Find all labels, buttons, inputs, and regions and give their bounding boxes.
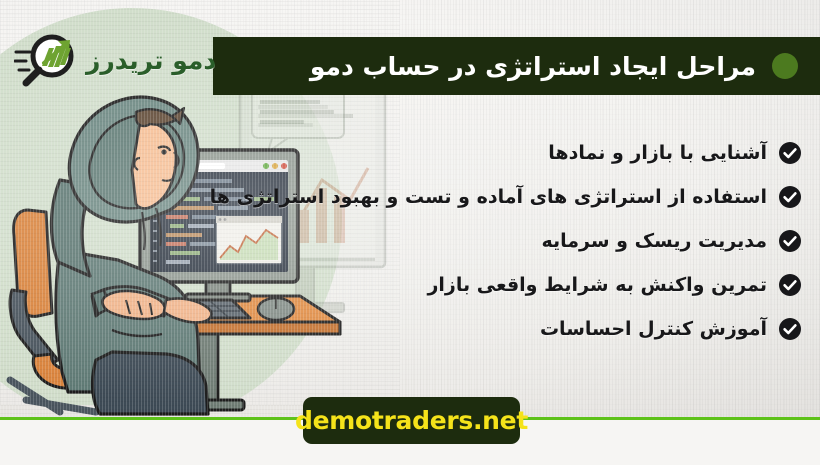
website-url-label: demotraders.net — [295, 406, 528, 435]
header-bar: مراحل ایجاد استراتژی در حساب دمو — [213, 37, 820, 95]
list-item: تمرین واکنش به شرایط واقعی بازار — [262, 268, 802, 301]
list-item-label: تمرین واکنش به شرایط واقعی بازار — [427, 274, 767, 296]
list-item-label: استفاده از استراتژی های آماده و تست و به… — [210, 186, 767, 208]
list-item-label: آموزش کنترل احساسات — [540, 318, 767, 340]
circle-bullet-icon — [772, 53, 798, 79]
list-item-label: آشنایی با بازار و نمادها — [548, 142, 767, 164]
check-circle-icon — [778, 229, 802, 253]
banner-canvas: دمو تریدرز مراحل — [0, 0, 820, 465]
list-item: آشنایی با بازار و نمادها — [262, 136, 802, 169]
check-circle-icon — [778, 141, 802, 165]
feature-list: آشنایی با بازار و نمادها استفاده از استر… — [262, 136, 802, 345]
magnifier-growth-chart-icon — [14, 30, 80, 90]
list-item: آموزش کنترل احساسات — [262, 312, 802, 345]
list-item: مدیریت ریسک و سرمایه — [262, 224, 802, 257]
page-title: مراحل ایجاد استراتژی در حساب دمو — [310, 52, 756, 81]
check-circle-icon — [778, 317, 802, 341]
website-badge[interactable]: demotraders.net — [303, 397, 520, 444]
brand-logo[interactable]: دمو تریدرز — [14, 30, 216, 90]
check-circle-icon — [778, 273, 802, 297]
check-circle-icon — [778, 185, 802, 209]
brand-logo-text: دمو تریدرز — [86, 46, 216, 75]
list-item-label: مدیریت ریسک و سرمایه — [541, 230, 767, 252]
list-item: استفاده از استراتژی های آماده و تست و به… — [262, 180, 802, 213]
